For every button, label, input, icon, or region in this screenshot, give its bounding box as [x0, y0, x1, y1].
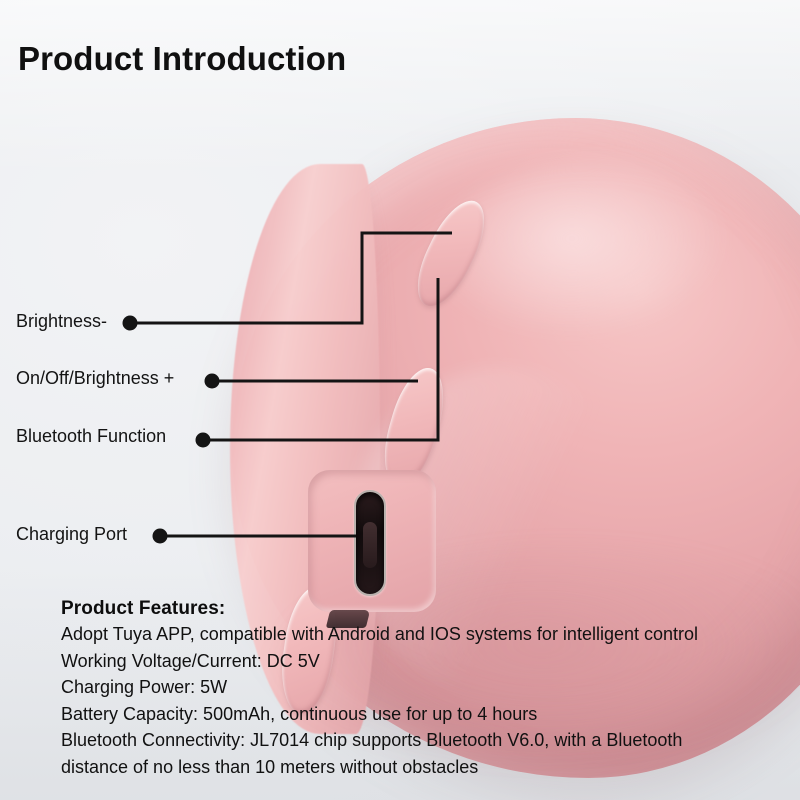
- product-introduction-page: Product Introduction Brightness- On/Off/…: [0, 0, 800, 800]
- feature-line: Bluetooth Connectivity: JL7014 chip supp…: [61, 727, 791, 780]
- callout-label-brightness-minus: Brightness-: [16, 311, 107, 332]
- callout-label-bluetooth-function: Bluetooth Function: [16, 426, 166, 447]
- usb-c-tongue: [363, 522, 377, 568]
- feature-line: Adopt Tuya APP, compatible with Android …: [61, 621, 791, 648]
- callout-label-charging-port: Charging Port: [16, 524, 127, 545]
- product-features-block: Product Features: Adopt Tuya APP, compat…: [61, 598, 791, 780]
- feature-line: Charging Power: 5W: [61, 674, 791, 701]
- callout-label-power-brightness-plus: On/Off/Brightness +: [16, 368, 174, 389]
- feature-line: Working Voltage/Current: DC 5V: [61, 648, 791, 675]
- product-highlight: [428, 158, 788, 388]
- page-title: Product Introduction: [18, 40, 346, 78]
- feature-line: Battery Capacity: 500mAh, continuous use…: [61, 701, 791, 728]
- features-heading: Product Features:: [61, 598, 791, 620]
- usb-c-charging-port: [354, 490, 386, 596]
